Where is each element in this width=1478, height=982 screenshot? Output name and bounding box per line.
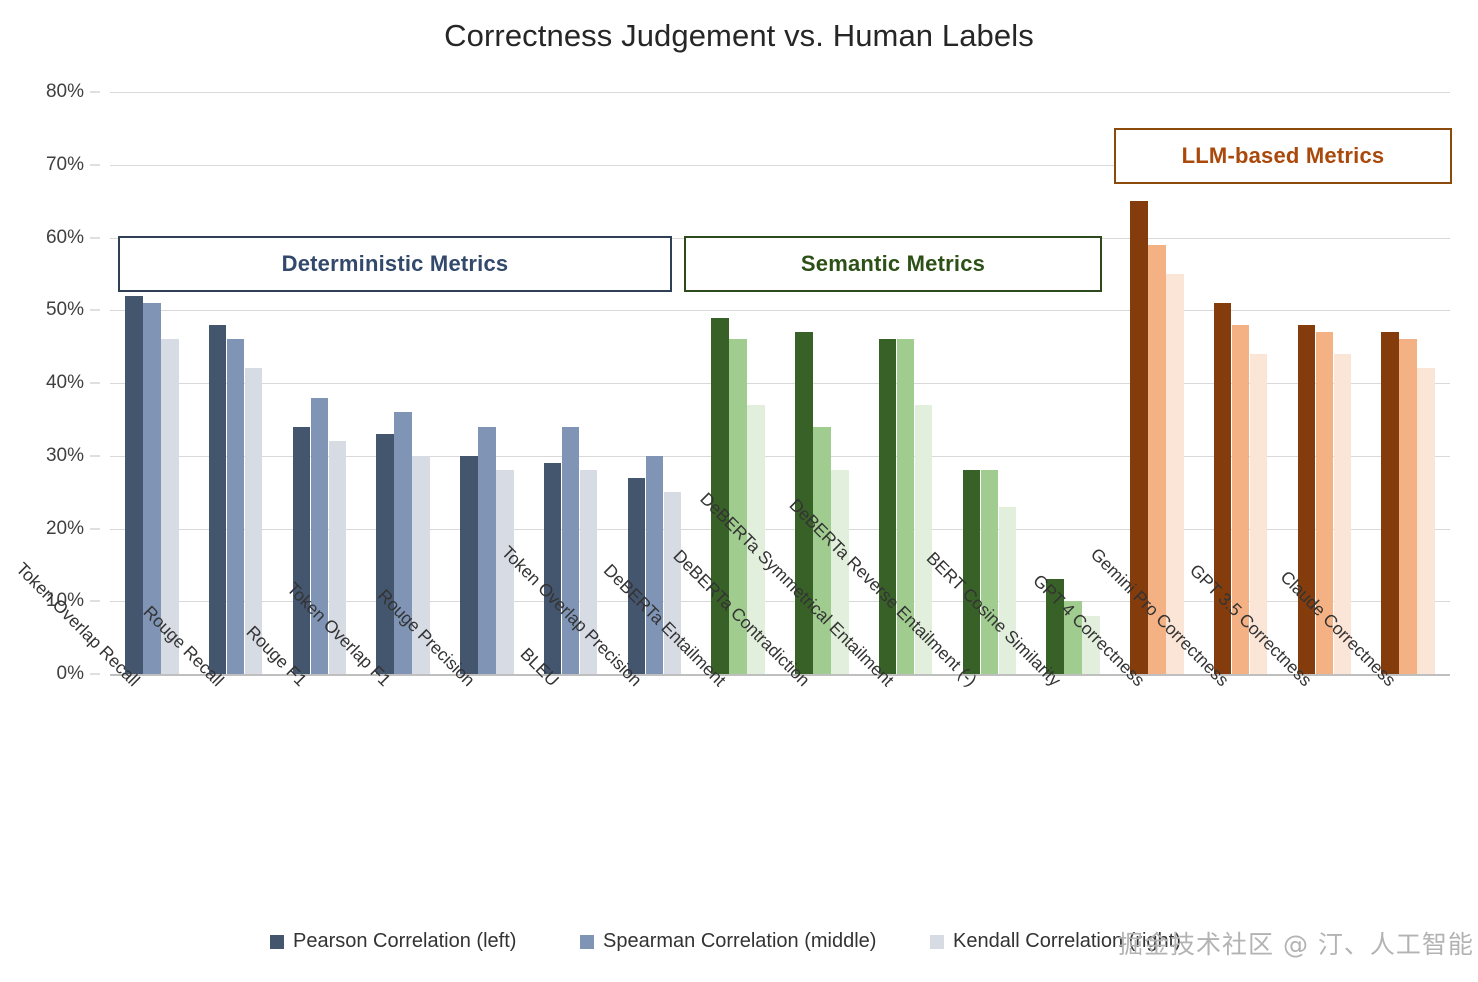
bar[interactable] <box>376 434 394 674</box>
legend-item[interactable]: Spearman Correlation (middle) <box>580 930 876 953</box>
legend-item[interactable]: Pearson Correlation (left) <box>270 930 516 953</box>
bar-group <box>445 92 529 674</box>
bar-group <box>194 92 278 674</box>
bar[interactable] <box>879 339 897 674</box>
bar[interactable] <box>293 427 311 674</box>
y-axis-tick-label: 50% <box>46 299 84 321</box>
bar[interactable] <box>646 456 664 674</box>
y-axis-tick-label: 70% <box>46 154 84 176</box>
y-axis-tick-label: 60% <box>46 227 84 249</box>
bar[interactable] <box>1399 339 1417 674</box>
bar[interactable] <box>209 325 227 674</box>
y-axis-tick-mark <box>90 310 100 311</box>
y-axis-tick-mark <box>90 455 100 456</box>
y-axis-tick-label: 0% <box>57 663 84 685</box>
bar[interactable] <box>1381 332 1399 674</box>
bar[interactable] <box>1298 325 1316 674</box>
y-axis-tick-mark <box>90 601 100 602</box>
y-axis-tick-label: 20% <box>46 518 84 540</box>
chart-container: Correctness Judgement vs. Human Labels 0… <box>0 0 1478 982</box>
bar[interactable] <box>1417 368 1435 674</box>
bar-group <box>361 92 445 674</box>
x-axis-category-labels: Token Overlap RecallRouge RecallRouge F1… <box>110 676 1450 926</box>
legend-swatch-icon <box>580 935 594 949</box>
annotation-label: Semantic Metrics <box>801 251 985 277</box>
legend-label: Spearman Correlation (middle) <box>603 930 876 953</box>
legend-swatch-icon <box>270 935 284 949</box>
y-axis-tick-mark <box>90 164 100 165</box>
bar[interactable] <box>460 456 478 674</box>
legend-swatch-icon <box>930 935 944 949</box>
y-axis-tick-label: 30% <box>46 445 84 467</box>
watermark: 掘金技术社区 @ 汀、人工智能 <box>1118 925 1474 961</box>
bar-group <box>110 92 194 674</box>
y-axis-tick-mark <box>90 528 100 529</box>
chart-title: Correctness Judgement vs. Human Labels <box>0 18 1478 54</box>
bar[interactable] <box>981 470 999 674</box>
bar[interactable] <box>496 470 514 674</box>
bar[interactable] <box>478 427 496 674</box>
annotation-deterministic-metrics: Deterministic Metrics <box>118 236 672 292</box>
annotation-semantic-metrics: Semantic Metrics <box>684 236 1102 292</box>
y-axis-tick-mark <box>90 237 100 238</box>
y-axis-tick-mark <box>90 92 100 93</box>
annotation-label: LLM-based Metrics <box>1182 143 1385 169</box>
y-axis-tick-label: 40% <box>46 372 84 394</box>
annotation-label: Deterministic Metrics <box>282 251 509 277</box>
bar[interactable] <box>544 463 562 674</box>
y-axis-tick-mark <box>90 383 100 384</box>
bar[interactable] <box>227 339 245 674</box>
bar[interactable] <box>963 470 981 674</box>
y-axis-tick-mark <box>90 674 100 675</box>
annotation-llm-based-metrics: LLM-based Metrics <box>1114 128 1452 184</box>
legend-label: Pearson Correlation (left) <box>293 930 516 953</box>
y-axis-tick-label: 80% <box>46 81 84 103</box>
